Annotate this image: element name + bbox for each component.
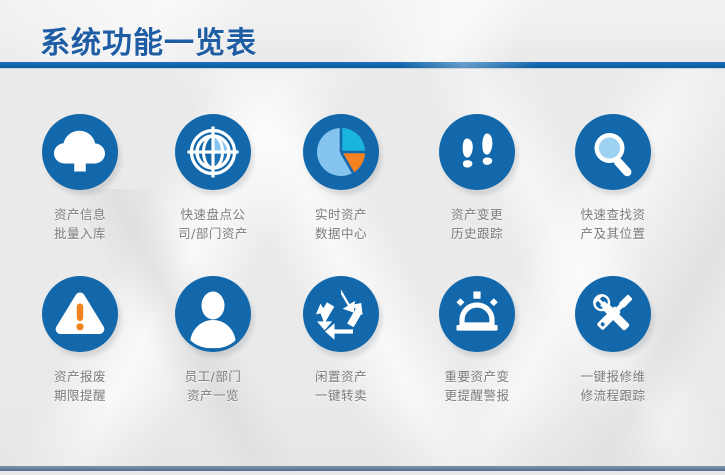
feature-cell-realtime-data[interactable]: 实时资产 数据中心 (274, 114, 408, 243)
pie-chart-icon[interactable] (303, 114, 379, 190)
icon-wrapper (42, 276, 118, 352)
icon-wrapper (42, 114, 118, 190)
footer-strip (0, 471, 725, 475)
slide-canvas: 系统功能一览表 (0, 0, 725, 475)
icon-wrapper (303, 276, 379, 352)
feature-label: 快速盘点公 司/部门资产 (146, 205, 280, 243)
feature-label: 重要资产变 更提醒警报 (410, 367, 544, 405)
recycle-icon[interactable] (303, 276, 379, 352)
feature-label: 实时资产 数据中心 (274, 205, 408, 243)
feature-label: 资产变更 历史跟踪 (410, 205, 544, 243)
feature-label: 资产报废 期限提醒 (13, 367, 147, 405)
slide-header: 系统功能一览表 (0, 0, 725, 63)
icon-wrapper (439, 114, 515, 190)
feature-label: 资产信息 批量入库 (13, 205, 147, 243)
feature-cell-change-history[interactable]: 资产变更 历史跟踪 (410, 114, 544, 243)
warning-triangle-icon[interactable] (42, 276, 118, 352)
feature-cell-repair-workflow[interactable]: 一键报修维 修流程跟踪 (546, 276, 680, 405)
feature-grid: 资产信息 批量入库 快速盘点公 司/部门资产 (0, 69, 725, 469)
feature-cell-disposal-reminder[interactable]: 资产报废 期限提醒 (13, 276, 147, 405)
icon-wrapper (575, 276, 651, 352)
icon-wrapper (303, 114, 379, 190)
feature-cell-quick-stocktake[interactable]: 快速盘点公 司/部门资产 (146, 114, 280, 243)
crosshair-target-icon[interactable] (175, 114, 251, 190)
feature-cell-idle-resale[interactable]: 闲置资产 一键转卖 (274, 276, 408, 405)
alarm-beacon-icon[interactable] (439, 276, 515, 352)
user-silhouette-icon[interactable] (175, 276, 251, 352)
feature-cell-employee-assets[interactable]: 员工/部门 资产一览 (146, 276, 280, 405)
page-title: 系统功能一览表 (40, 18, 257, 62)
cloud-upload-icon[interactable] (42, 114, 118, 190)
feature-label: 员工/部门 资产一览 (146, 367, 280, 405)
feature-cell-important-alert[interactable]: 重要资产变 更提醒警报 (410, 276, 544, 405)
icon-wrapper (575, 114, 651, 190)
icon-wrapper (175, 276, 251, 352)
feature-label: 闲置资产 一键转卖 (274, 367, 408, 405)
feature-label: 一键报修维 修流程跟踪 (546, 367, 680, 405)
icon-wrapper (175, 114, 251, 190)
tools-wrench-screwdriver-icon[interactable] (575, 276, 651, 352)
icon-wrapper (439, 276, 515, 352)
feature-cell-asset-import[interactable]: 资产信息 批量入库 (13, 114, 147, 243)
magnifier-icon[interactable] (575, 114, 651, 190)
feature-label: 快速查找资 产及其位置 (546, 205, 680, 243)
footprints-icon[interactable] (439, 114, 515, 190)
feature-cell-quick-search[interactable]: 快速查找资 产及其位置 (546, 114, 680, 243)
